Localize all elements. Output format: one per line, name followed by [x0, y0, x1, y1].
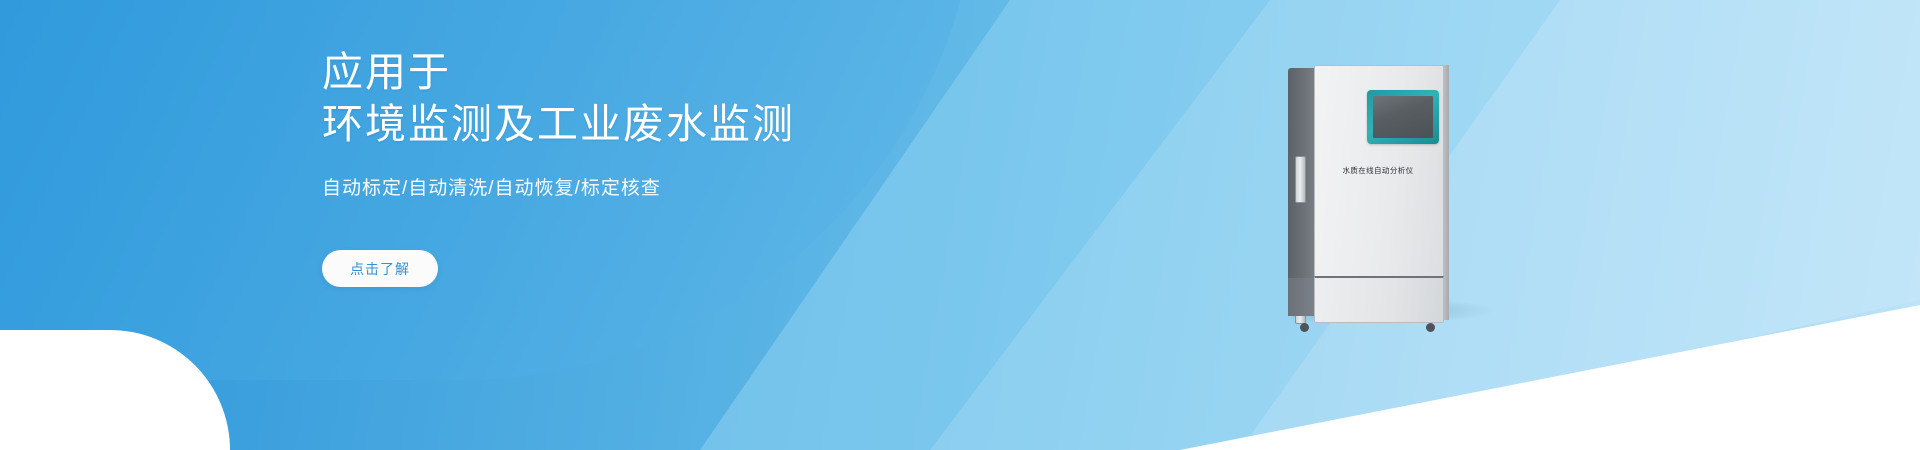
learn-more-button[interactable]: 点击了解	[322, 250, 438, 287]
hero-subtitle: 自动标定/自动清洗/自动恢复/标定核查	[322, 176, 1082, 202]
device-label: 水质在线自动分析仪	[1318, 165, 1438, 176]
cabinet-foot-left	[1300, 323, 1309, 332]
cabinet-side-panel-lower	[1288, 278, 1316, 316]
product-image-analyzer: 水质在线自动分析仪	[1288, 60, 1478, 325]
screen-glass	[1373, 96, 1433, 138]
cabinet-front-lower	[1314, 276, 1444, 323]
door-handle-icon	[1295, 156, 1306, 203]
cabinet-foot-right	[1426, 323, 1435, 332]
display-screen-icon	[1367, 90, 1439, 144]
page-title: 应用于 环境监测及工业废水监测	[322, 46, 1082, 150]
hero-copy: 应用于 环境监测及工业废水监测 自动标定/自动清洗/自动恢复/标定核查	[322, 46, 1082, 202]
hero-banner: 应用于 环境监测及工业废水监测 自动标定/自动清洗/自动恢复/标定核查 点击了解…	[0, 0, 1920, 450]
